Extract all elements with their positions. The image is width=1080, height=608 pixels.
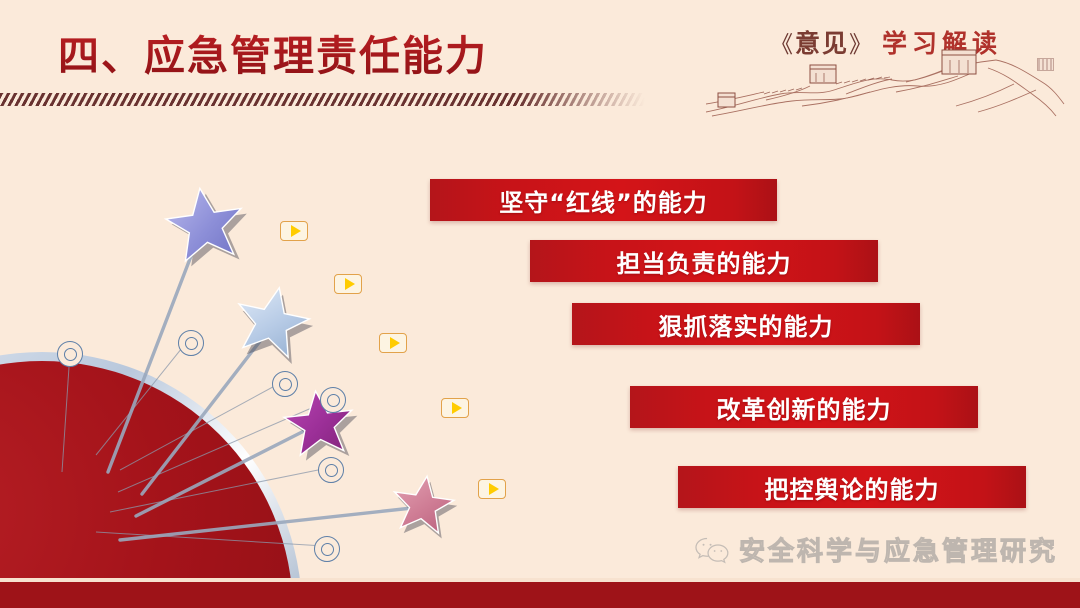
- capability-box-4[interactable]: 改革创新的能力: [630, 386, 978, 428]
- hatch-divider: [0, 93, 645, 106]
- capability-box-3[interactable]: 狠抓落实的能力: [572, 303, 920, 345]
- great-wall-artwork: 《意见》学习解读: [706, 6, 1066, 118]
- page-title: 四、应急管理责任能力: [58, 22, 488, 82]
- slide-canvas: 四、应急管理责任能力 《意见》学习解读: [0, 0, 1080, 608]
- slide-header: 四、应急管理责任能力 《意见》学习解读: [0, 0, 1080, 122]
- wechat-watermark: 安全科学与应急管理研究: [694, 531, 1058, 568]
- capability-box-1[interactable]: 坚守“红线”的能力: [430, 179, 777, 221]
- watermark-text: 安全科学与应急管理研究: [739, 531, 1058, 568]
- bottom-red-bar: [0, 582, 1080, 608]
- seal-stamp-icon: [1037, 58, 1054, 71]
- wechat-icon: [694, 535, 730, 565]
- capability-box-2[interactable]: 担当负责的能力: [530, 240, 878, 282]
- capability-box-5[interactable]: 把控舆论的能力: [678, 466, 1026, 508]
- great-wall-illustration-icon: [706, 46, 1066, 118]
